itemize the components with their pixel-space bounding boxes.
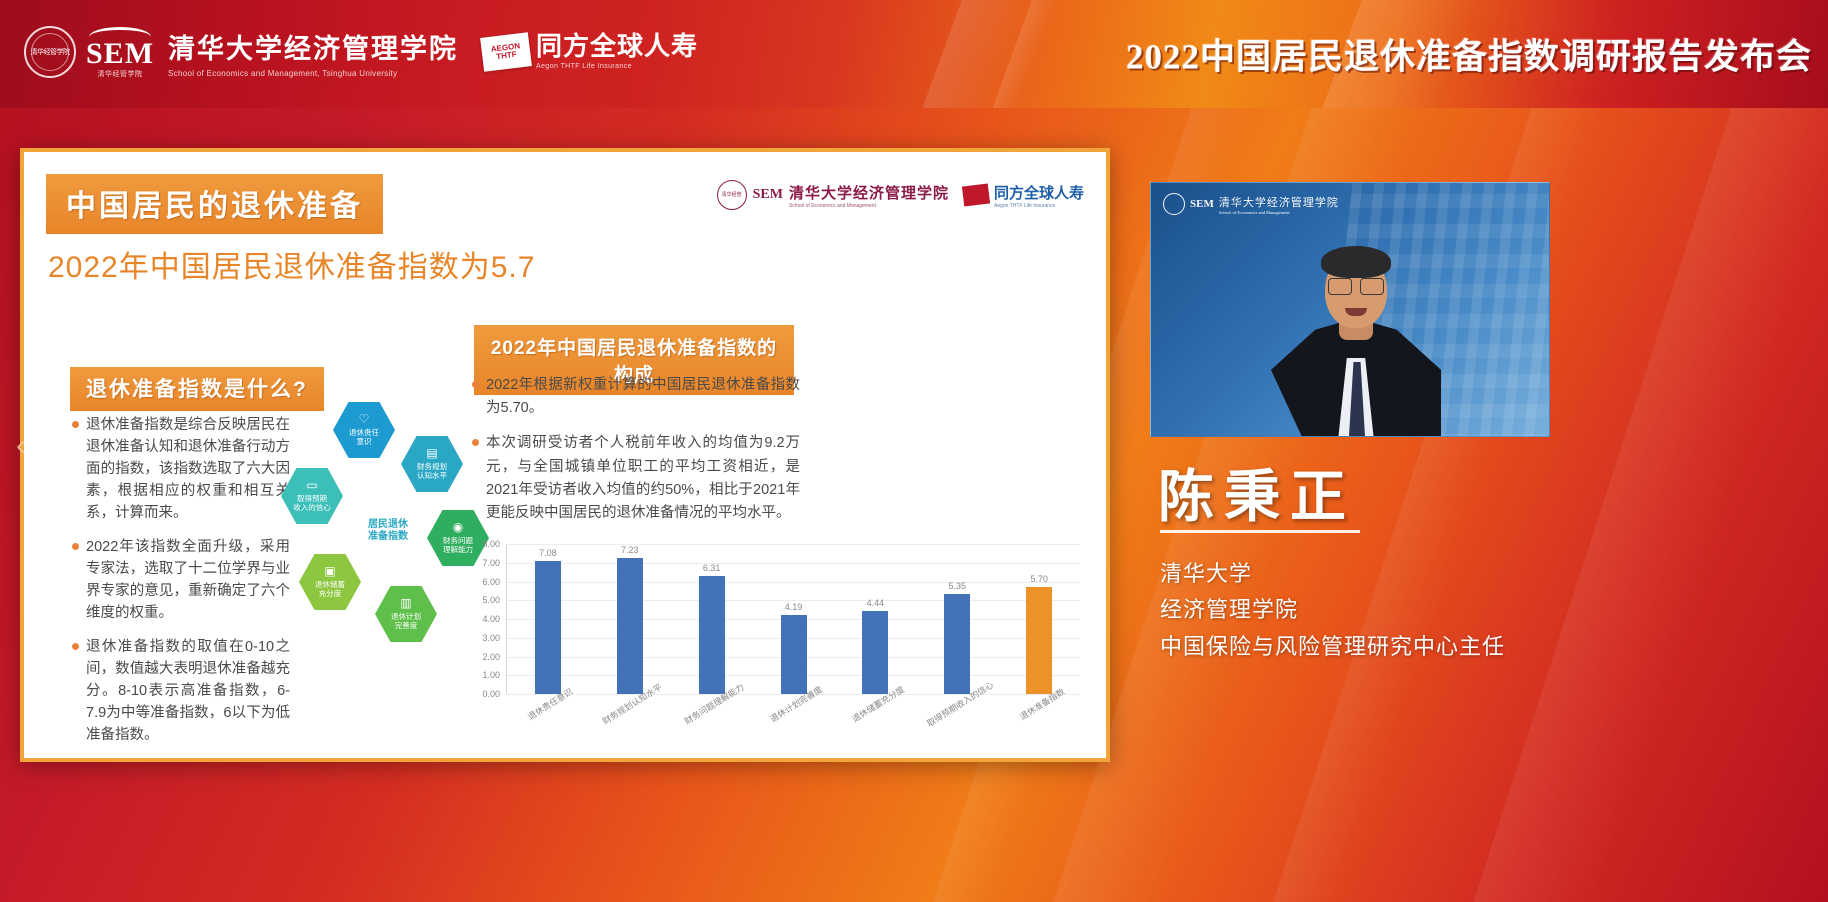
index-bar-chart: 8.007.006.005.004.003.002.001.000.00 7.0…: [464, 544, 1084, 759]
header-logo-group: 清华经管学院 SEM 清华经管学院 清华大学经济管理学院 School of E…: [24, 18, 698, 86]
presentation-slide[interactable]: 中国居民的退休准备 2022年中国居民退休准备指数为5.7 清华经管 SEM 清…: [20, 148, 1110, 762]
hex-label-line2: 完善度: [395, 622, 418, 631]
hexagon-center-label: 居民退休 准备指数: [351, 498, 425, 564]
hex-income-confidence: ▭ 取得预期 收入的信心: [281, 468, 343, 524]
list-item: 退休准备指数是综合反映居民在退休准备认知和退休准备行动方面的指数，该指数选取了六…: [72, 414, 290, 524]
hair-shape: [1321, 246, 1391, 278]
chart-bar-column: 4.44: [834, 544, 916, 694]
chart-bar: [781, 615, 807, 694]
aegon-mark-text: AEGON THTF: [481, 41, 531, 64]
bullet-text: 2022年根据新权重计算的中国居民退休准备指数为5.70。: [486, 374, 800, 420]
chart-bar: [699, 576, 725, 694]
slide-thu-wordmark: 清华大学经济管理学院 School of Economics and Manag…: [789, 182, 949, 209]
chart-bar-value: 6.31: [703, 563, 721, 573]
bullet-text: 2022年该指数全面升级，采用专家法，选取了十二位学界与业界专家的意见，重新确定…: [86, 536, 290, 624]
tsinghua-name-en: School of Economics and Management: [789, 203, 949, 209]
aegon-name-en: Aegon THTF Life Insurance: [994, 203, 1084, 209]
aegon-mark-icon: [962, 183, 990, 206]
tsinghua-name-cn: 清华大学经济管理学院 School of Economics and Manag…: [1219, 194, 1339, 215]
aegon-mark-icon: AEGON THTF: [480, 32, 532, 72]
hex-financial-planning: ▤ 财务规划 认知水平: [401, 436, 463, 492]
event-title: 2022中国居民退休准备指数调研报告发布会: [1126, 29, 1812, 80]
aegon-name-cn: 同方全球人寿: [536, 34, 698, 60]
thu-cn-text: 清华大学经济管理学院: [1219, 197, 1339, 209]
hex-label-line2: 意识: [357, 438, 372, 447]
seal-text: 清华经管: [722, 193, 742, 198]
bg-streak: [1053, 0, 1456, 902]
chart-gridline: [507, 694, 1080, 695]
tsinghua-wordmark: 清华大学经济管理学院 School of Economics and Manag…: [168, 27, 458, 78]
tsinghua-seal-icon: [1163, 193, 1185, 215]
bullet-text: 退休准备指数的取值在0-10之间，数值越大表明退休准备越充分。8-10表示高准备…: [86, 636, 290, 746]
chart-y-tick: 0.00: [482, 689, 500, 699]
chart-bars: 7.087.236.314.194.445.355.70: [507, 544, 1080, 694]
chart-y-tick: 2.00: [482, 652, 500, 662]
sem-logo: SEM 清华经管学院: [86, 27, 154, 78]
bullet-text: 本次调研受访者个人税前年收入的均值为9.2万元，与全国城镇单位职工的平均工资相近…: [486, 432, 800, 525]
chart-bar-value: 4.19: [785, 602, 803, 612]
tsinghua-name-en: School of Economics and Management, Tsin…: [168, 69, 458, 78]
affiliation-line-2: 经济管理学院: [1160, 592, 1505, 628]
chart-x-axis-labels: 退休责任意识财务规划认知水平财务问题理解能力退休计划完善度退休储蓄充分度取得预期…: [506, 699, 1080, 711]
chart-bar: [617, 558, 643, 694]
chart-bar-column: 7.08: [507, 544, 589, 694]
chart-y-tick: 8.00: [482, 539, 500, 549]
hex-retirement-responsibility: ♡ 退休责任 意识: [333, 402, 395, 458]
slide-logo-group: 清华经管 SEM 清华大学经济管理学院 School of Economics …: [717, 180, 1084, 210]
center-label-line1: 居民退休: [368, 519, 408, 532]
chart-y-tick: 7.00: [482, 558, 500, 568]
right-panel-bullets: 2022年根据新权重计算的中国居民退休准备指数为5.70。 本次调研受访者个人税…: [472, 374, 800, 537]
glasses-icon: [1328, 278, 1384, 294]
chart-bar-column: 4.19: [753, 544, 835, 694]
slide-aegon-logo: 同方全球人寿 Aegon THTF Life Insurance: [963, 182, 1084, 209]
bullet-dot-icon: [472, 439, 479, 446]
affiliation-line-3: 中国保险与风险管理研究中心主任: [1160, 629, 1505, 665]
left-panel-bullets: 退休准备指数是综合反映居民在退休准备认知和退休准备行动方面的指数，该指数选取了六…: [72, 414, 290, 758]
chart-bar-column: 5.35: [916, 544, 998, 694]
chart-bar: [535, 561, 561, 694]
bg-streak: [1273, 0, 1636, 902]
chart-y-tick: 6.00: [482, 577, 500, 587]
affiliation-line-1: 清华大学: [1160, 556, 1505, 592]
hex-label-line2: 充分度: [319, 590, 342, 599]
video-overlay-logo: SEM 清华大学经济管理学院 School of Economics and M…: [1163, 193, 1339, 215]
slide-title: 中国居民的退休准备: [46, 174, 383, 234]
list-item: 本次调研受访者个人税前年收入的均值为9.2万元，与全国城镇单位职工的平均工资相近…: [472, 432, 800, 525]
heart-icon: ♡: [359, 413, 370, 427]
bank-icon: ▣: [324, 565, 335, 579]
chart-bar-column: 5.70: [998, 544, 1080, 694]
hexagon-diagram: ♡ 退休责任 意识 ▤ 财务规划 认知水平 ▭ 取得预期 收入的信心 ◉ 财务问…: [279, 402, 494, 662]
bg-streak: [1473, 0, 1828, 902]
chart-bar-value: 5.35: [948, 581, 966, 591]
chart-y-tick: 5.00: [482, 595, 500, 605]
tsinghua-name-cn: 清华大学经济管理学院: [789, 182, 949, 203]
sem-abbr: SEM: [1190, 198, 1214, 210]
chart-y-tick: 3.00: [482, 633, 500, 643]
slide-subtitle: 2022年中国居民退休准备指数为5.7: [48, 242, 535, 286]
tsinghua-name-cn: 清华大学经济管理学院: [168, 27, 458, 66]
page-header: 清华经管学院 SEM 清华经管学院 清华大学经济管理学院 School of E…: [0, 0, 1828, 108]
tsinghua-seal-icon: 清华经管学院: [24, 26, 76, 78]
chart-bar-value: 7.08: [539, 548, 557, 558]
sem-abbr: SEM: [86, 39, 154, 69]
speaker-video-tile[interactable]: SEM 清华大学经济管理学院 School of Economics and M…: [1150, 182, 1550, 437]
hex-label-line2: 认知水平: [417, 472, 447, 481]
chart-icon: ◉: [453, 521, 463, 535]
slide-content: 中国居民的退休准备 2022年中国居民退休准备指数为5.7 清华经管 SEM 清…: [24, 152, 1106, 758]
bullet-dot-icon: [472, 381, 479, 388]
chart-bar-value: 4.44: [867, 598, 885, 608]
prev-slide-arrow[interactable]: ‹: [8, 420, 34, 472]
chart-plot: 7.087.236.314.194.445.355.70: [506, 544, 1080, 694]
slide-aegon-wordmark: 同方全球人寿 Aegon THTF Life Insurance: [994, 182, 1084, 209]
chart-y-tick: 4.00: [482, 614, 500, 624]
sem-sub-label: 清华经管学院: [98, 71, 143, 78]
bullet-text: 退休准备指数是综合反映居民在退休准备认知和退休准备行动方面的指数，该指数选取了六…: [86, 414, 290, 524]
list-item: 2022年根据新权重计算的中国居民退休准备指数为5.70。: [472, 374, 800, 420]
chart-y-tick: 1.00: [482, 670, 500, 680]
aegon-name-cn: 同方全球人寿: [994, 182, 1084, 203]
chart-bar: [862, 611, 888, 694]
aegon-logo: AEGON THTF 同方全球人寿 Aegon THTF Life Insura…: [482, 34, 698, 70]
sem-arc-icon: [89, 27, 151, 37]
chart-y-axis: 8.007.006.005.004.003.002.001.000.00: [464, 544, 504, 694]
chart-bar-column: 6.31: [671, 544, 753, 694]
tsinghua-seal-icon: 清华经管: [717, 180, 747, 210]
chart-plot-area: 8.007.006.005.004.003.002.001.000.00 7.0…: [464, 544, 1084, 712]
hex-label-line2: 收入的信心: [293, 504, 331, 513]
chart-bar-value: 7.23: [621, 545, 639, 555]
bullet-dot-icon: [72, 643, 79, 650]
seal-text: 清华经管学院: [31, 49, 70, 56]
calendar-icon: ▥: [400, 597, 411, 611]
chart-bar: [944, 594, 970, 694]
center-label-line2: 准备指数: [368, 531, 408, 544]
wallet-icon: ▭: [306, 479, 317, 493]
hex-plan-completeness: ▥ 退休计划 完善度: [375, 586, 437, 642]
bullet-dot-icon: [72, 421, 79, 428]
list-item: 退休准备指数的取值在0-10之间，数值越大表明退休准备越充分。8-10表示高准备…: [72, 636, 290, 746]
speaker-affiliation: 清华大学 经济管理学院 中国保险与风险管理研究中心主任: [1160, 556, 1505, 665]
thu-en-text: School of Economics and Management: [1219, 210, 1339, 215]
chart-bar: [1026, 587, 1052, 694]
speaker-figure: [1271, 226, 1441, 436]
aegon-name-en: Aegon THTF Life Insurance: [536, 63, 698, 70]
list-item: 2022年该指数全面升级，采用专家法，选取了十二位学界与业界专家的意见，重新确定…: [72, 536, 290, 624]
chart-bar-column: 7.23: [589, 544, 671, 694]
name-divider: [1160, 530, 1360, 533]
slide-tsinghua-logo: 清华经管 SEM 清华大学经济管理学院 School of Economics …: [717, 180, 949, 210]
bullet-dot-icon: [72, 543, 79, 550]
speaker-name: 陈秉正: [1158, 452, 1356, 533]
document-icon: ▤: [426, 447, 437, 461]
sem-abbr: SEM: [753, 187, 783, 203]
aegon-wordmark: 同方全球人寿 Aegon THTF Life Insurance: [536, 34, 698, 70]
chart-bar-value: 5.70: [1030, 574, 1048, 584]
